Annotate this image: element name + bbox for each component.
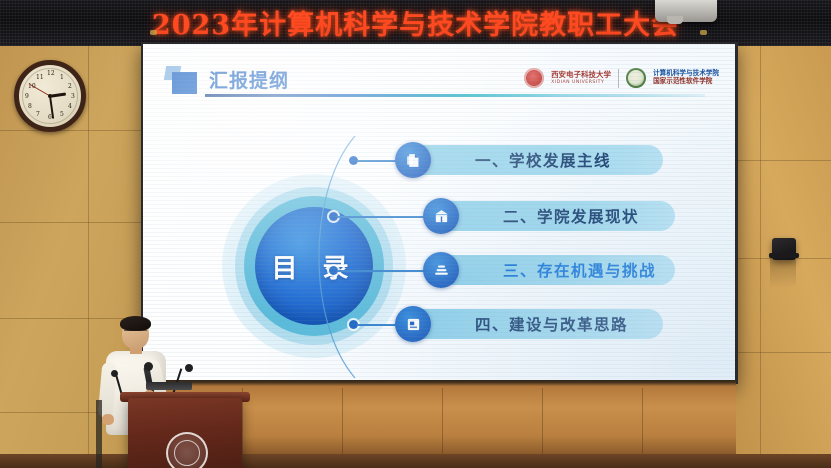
toc-item-3-label: 三、存在机遇与挑战 [503, 259, 656, 281]
college-logo-text: 计算机科学与技术学院 国家示范性软件学院 [653, 70, 719, 86]
logo-shape-dark [172, 72, 197, 94]
xidian-seal-icon [524, 68, 544, 88]
clock-numeral: 11 [36, 74, 44, 81]
podium-laptop [146, 382, 192, 390]
panel-seam [642, 388, 643, 454]
university-emblem-icon [166, 432, 208, 468]
podium-microphone-right-head [185, 364, 193, 372]
logo-divider [618, 69, 619, 88]
banner-lamp [700, 30, 707, 35]
clock-numeral: 5 [60, 111, 64, 118]
toc-item-1-label: 一、学校发展主线 [475, 149, 611, 171]
podium [128, 398, 242, 468]
wall-seam [0, 222, 150, 223]
university-name-cn: 西安电子科技大学 [551, 71, 611, 79]
glasses-icon [124, 330, 147, 336]
toc-item-4[interactable]: 四、建设与改革思路 [401, 309, 663, 339]
clipboard-icon [395, 306, 431, 342]
slide-logo-mark [165, 66, 199, 96]
wall-seam [88, 24, 89, 468]
university-name-en: XIDIAN UNIVERSITY [551, 80, 611, 85]
wall-seam [736, 160, 831, 161]
document-icon [395, 142, 431, 178]
panel-seam [542, 388, 543, 454]
microphone-head [144, 362, 153, 371]
toc-item-2[interactable]: 二、学院发展现状 [429, 201, 675, 231]
clock-hour-hand [50, 93, 66, 98]
clock-second-hand [29, 84, 50, 97]
presenter-hand-left [102, 414, 114, 425]
college-name-line2: 国家示范性软件学院 [653, 78, 719, 86]
wall-clock: 12 1 2 3 4 5 6 7 8 9 10 11 [14, 60, 86, 132]
wall-speaker [772, 238, 796, 260]
toc-item-4-label: 四、建设与改革思路 [475, 313, 628, 335]
title-underline [205, 94, 705, 97]
presenter-hair [120, 316, 151, 331]
banner-lamp [150, 30, 157, 35]
building-icon [423, 198, 459, 234]
clock-numeral: 9 [25, 93, 29, 100]
connector-arc [293, 132, 413, 381]
panel-seam [442, 388, 443, 454]
clock-numeral: 4 [68, 103, 72, 110]
clock-numeral: 8 [28, 103, 32, 110]
clock-numeral: 3 [71, 93, 75, 100]
clock-center-pin [48, 94, 52, 98]
slide-title: 汇报提纲 [209, 66, 289, 93]
wall-seam [760, 24, 761, 468]
clock-numeral: 1 [60, 74, 64, 81]
toc-item-1[interactable]: 一、学校发展主线 [401, 145, 663, 175]
clock-face: 12 1 2 3 4 5 6 7 8 9 10 11 [22, 68, 78, 124]
wall-seam [736, 352, 831, 353]
wall-seam [0, 130, 150, 131]
toc-item-3[interactable]: 三、存在机遇与挑战 [429, 255, 675, 285]
podium-side-stand [96, 400, 102, 468]
clock-numeral: 7 [36, 111, 40, 118]
speaker-shadow [770, 258, 796, 288]
panel-seam [342, 388, 343, 454]
layers-icon [423, 252, 459, 288]
connector-stem [337, 270, 429, 272]
connector-stem [337, 216, 429, 218]
college-seal-icon [626, 68, 646, 88]
conference-hall-scene: 12 1 2 3 4 5 6 7 8 9 10 11 2023年计算机科学与技术… [0, 0, 831, 468]
ceiling-projector [655, 0, 717, 22]
institution-logos: 西安电子科技大学 XIDIAN UNIVERSITY 计算机科学与技术学院 国家… [524, 68, 719, 88]
toc-item-2-label: 二、学院发展现状 [503, 205, 639, 227]
clock-numeral: 2 [68, 83, 72, 90]
podium-microphone-left-head [111, 370, 118, 377]
xidian-logo-text: 西安电子科技大学 XIDIAN UNIVERSITY [551, 71, 611, 85]
projection-screen: 汇报提纲 西安电子科技大学 XIDIAN UNIVERSITY 计算机科学与技术… [143, 44, 735, 381]
clock-numeral: 12 [47, 70, 55, 77]
